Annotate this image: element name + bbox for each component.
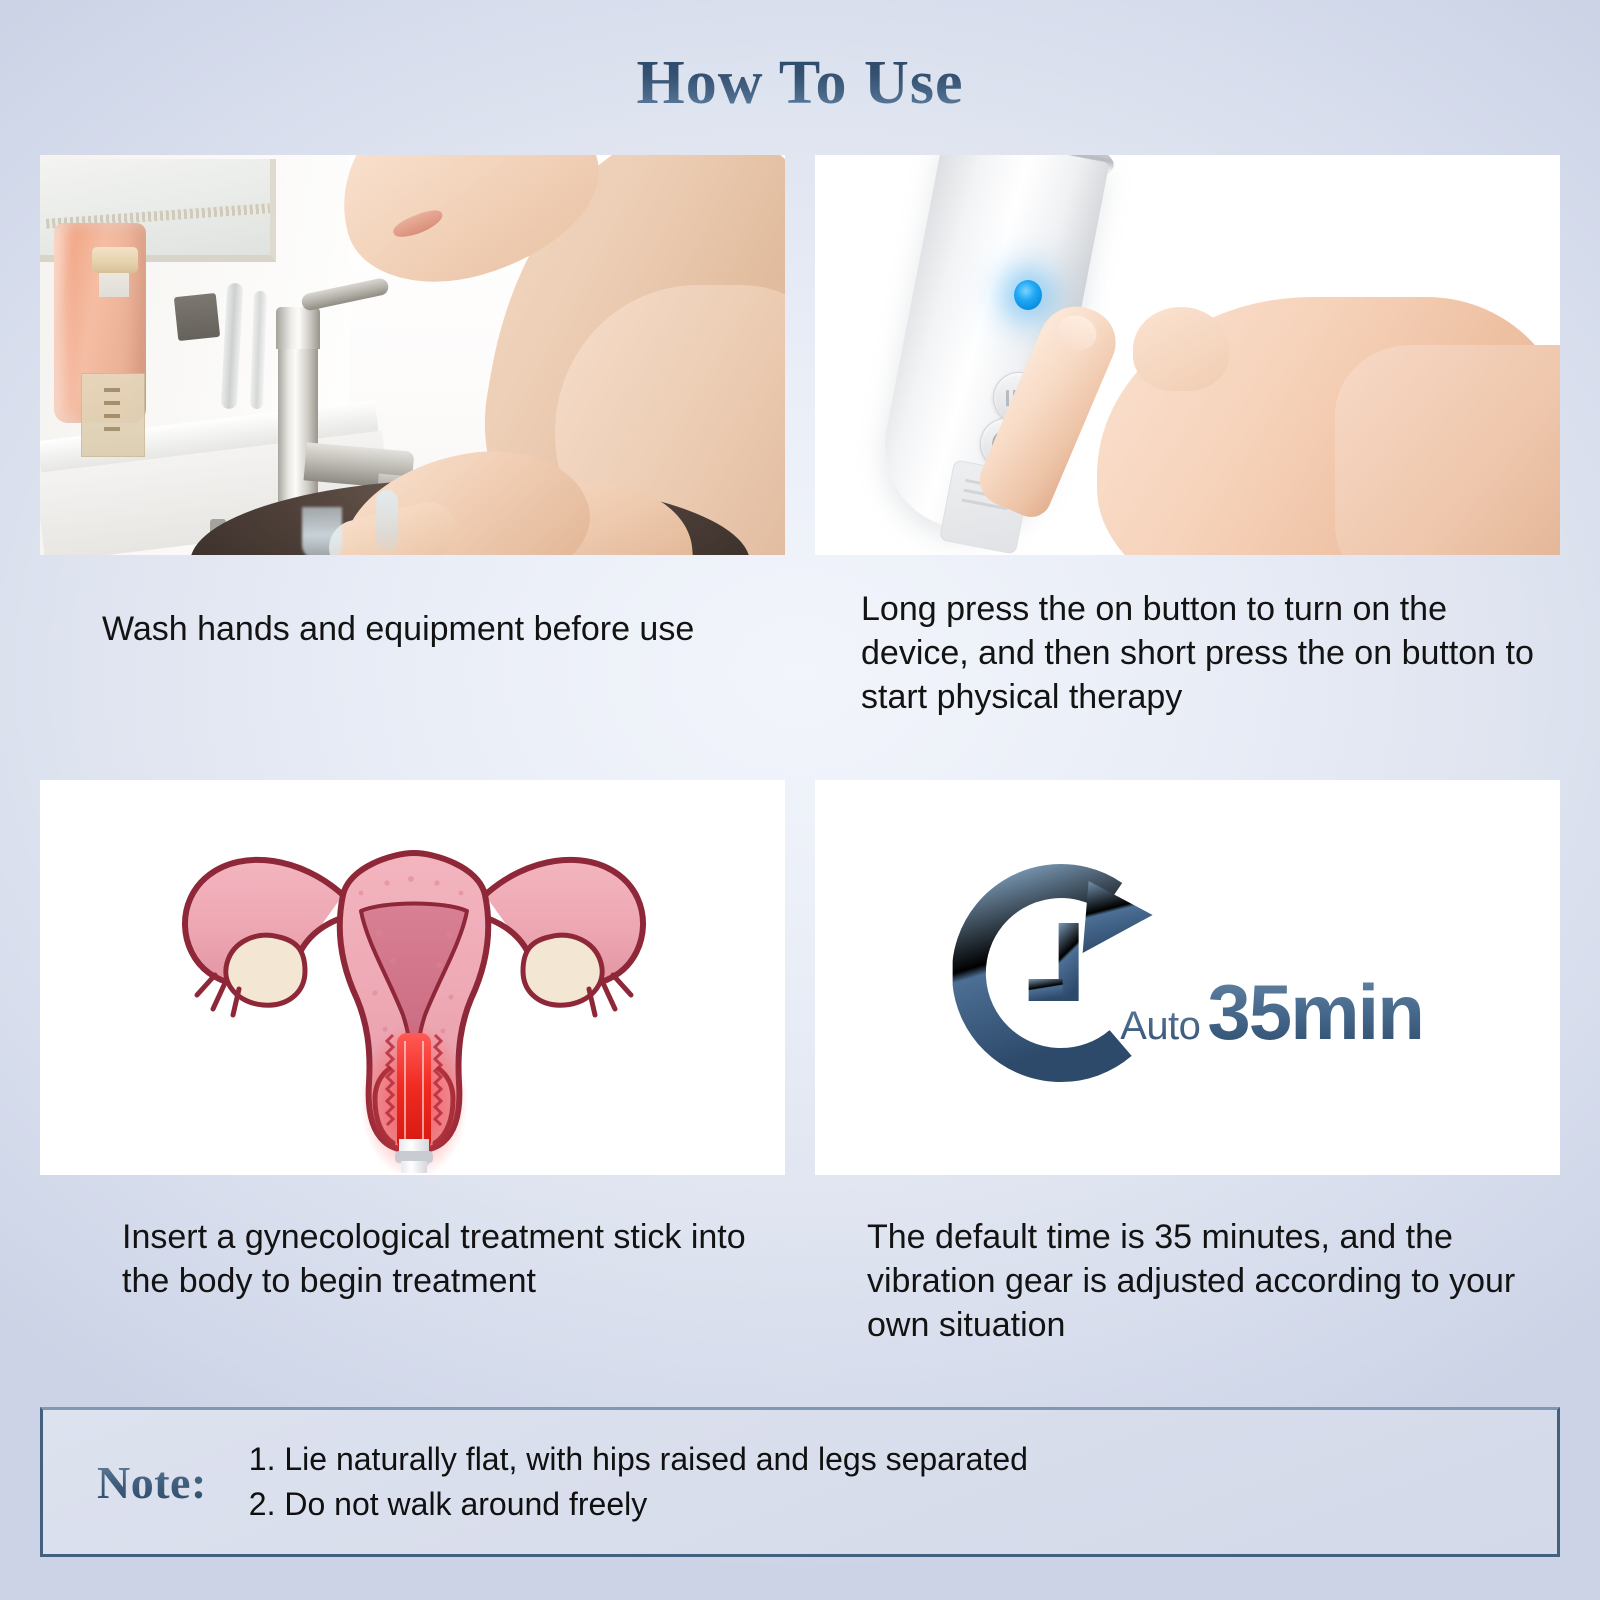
- page-title-container: How To Use: [0, 52, 1600, 114]
- handwashing-photo-scene: [40, 155, 785, 555]
- note-items: 1. Lie naturally flat, with hips raised …: [249, 1437, 1557, 1528]
- timer-text-group: Auto 35min: [1120, 967, 1423, 1058]
- soap-bottle: [54, 223, 146, 423]
- step-caption: Wash hands and equipment before use: [102, 607, 762, 651]
- handwashing-photo: [40, 155, 785, 555]
- step-insert-stick: Insert a gynecological treatment stick i…: [40, 780, 785, 1303]
- device-photo-scene: [815, 155, 1560, 555]
- step-caption: Long press the on button to turn on the …: [861, 587, 1551, 720]
- step-wash-hands: Wash hands and equipment before use: [40, 155, 785, 651]
- uterus-diagram-svg: [93, 783, 733, 1173]
- how-to-use-infographic: How To Use: [0, 0, 1600, 1600]
- water-falling: [302, 507, 342, 555]
- step-caption: The default time is 35 minutes, and the …: [867, 1215, 1547, 1348]
- timer-duration-label: 35min: [1207, 967, 1422, 1058]
- note-item: 2. Do not walk around freely: [249, 1482, 1557, 1527]
- thumb-knuckle: [1133, 307, 1229, 391]
- water-stream: [376, 490, 398, 552]
- note-box: Note: 1. Lie naturally flat, with hips r…: [40, 1407, 1560, 1557]
- step-default-time: Auto 35min The default time is 35 minute…: [815, 780, 1560, 1348]
- note-item: 1. Lie naturally flat, with hips raised …: [249, 1437, 1557, 1482]
- timer-composition: Auto 35min: [952, 863, 1423, 1093]
- uterus-anatomy-illustration: [40, 780, 785, 1175]
- faucet-top: [276, 307, 320, 349]
- soap-bottle-cap: [92, 247, 138, 273]
- note-label: Note:: [97, 1456, 207, 1509]
- timer-auto-label: Auto: [1120, 1004, 1200, 1049]
- wrist: [1335, 345, 1560, 555]
- device-power-button-photo: [815, 155, 1560, 555]
- auto-timer-icon: Auto 35min: [815, 780, 1560, 1175]
- step-power-on: Long press the on button to turn on the …: [815, 155, 1560, 720]
- timer-panel-scene: Auto 35min: [815, 780, 1560, 1175]
- wall-outlet: [174, 293, 220, 341]
- step-caption: Insert a gynecological treatment stick i…: [122, 1215, 772, 1303]
- uterus-illustration-scene: [40, 780, 785, 1175]
- device-led-indicator: [1014, 280, 1042, 310]
- soap-bottle-label: [81, 373, 145, 457]
- steps-grid: Wash hands and equipment before use: [40, 155, 1560, 1355]
- page-title: How To Use: [637, 52, 964, 114]
